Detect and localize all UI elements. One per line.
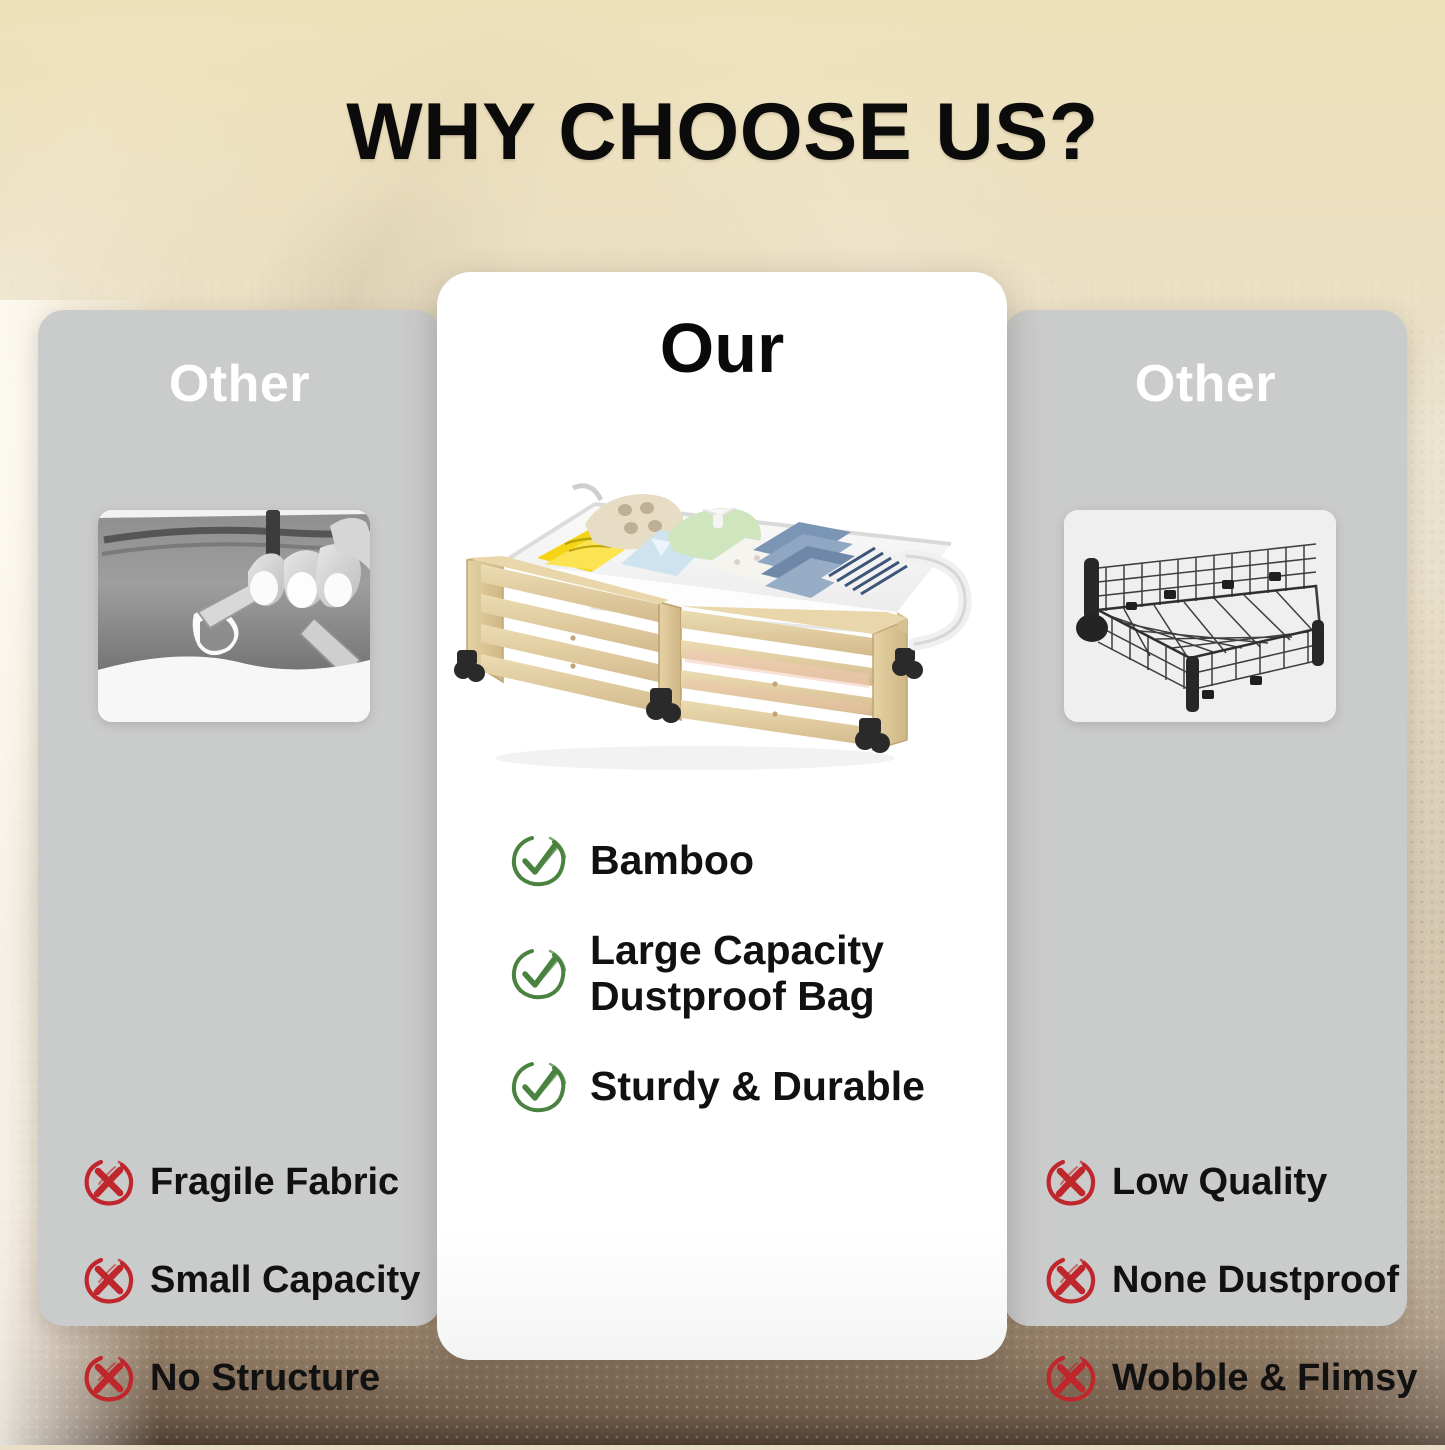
list-item: Large Capacity Dustproof Bag <box>510 928 980 1020</box>
panel-center-bullets: Bamboo Large Capacity Dustproof Bag <box>510 832 980 1154</box>
cross-circle-icon <box>1044 1254 1096 1306</box>
list-item-label: No Structure <box>150 1357 380 1400</box>
list-item: Fragile Fabric <box>82 1156 432 1208</box>
panel-left-title: Other <box>38 354 441 414</box>
list-item: Low Quality <box>1044 1156 1394 1208</box>
list-item: Wobble & Flimsy <box>1044 1352 1394 1404</box>
cross-circle-icon <box>1044 1156 1096 1208</box>
panel-other-right: Other <box>1004 310 1407 1326</box>
check-circle-icon <box>510 832 568 890</box>
cross-circle-icon <box>82 1352 134 1404</box>
list-item-label: Wobble & Flimsy <box>1112 1357 1417 1400</box>
list-item-label: Low Quality <box>1112 1161 1327 1204</box>
list-item-label: Large Capacity Dustproof Bag <box>590 928 884 1020</box>
list-item-label: Small Capacity <box>150 1259 420 1302</box>
list-item-label: Sturdy & Durable <box>590 1064 925 1110</box>
list-item: None Dustproof <box>1044 1254 1394 1306</box>
torn-fabric-bag-photo <box>98 510 370 722</box>
cross-circle-icon <box>1044 1352 1096 1404</box>
list-item: Bamboo <box>510 832 980 890</box>
list-item: Small Capacity <box>82 1254 432 1306</box>
page-title: WHY CHOOSE US? <box>0 86 1445 179</box>
list-item-label: Fragile Fabric <box>150 1161 399 1204</box>
cross-circle-icon <box>82 1156 134 1208</box>
panel-other-left: Other <box>38 310 441 1326</box>
panel-left-bullets: Fragile Fabric Small Capacity <box>82 1156 432 1450</box>
list-item: No Structure <box>82 1352 432 1404</box>
bamboo-storage-box-photo <box>445 452 1001 782</box>
panel-our-center: Our <box>437 272 1007 1360</box>
wire-mesh-basket-photo <box>1064 510 1336 722</box>
check-circle-icon <box>510 945 568 1003</box>
list-item-label: None Dustproof <box>1112 1259 1399 1302</box>
check-circle-icon <box>510 1058 568 1116</box>
panel-center-title: Our <box>437 308 1007 388</box>
cross-circle-icon <box>82 1254 134 1306</box>
panel-right-bullets: Low Quality None Dustproof <box>1044 1156 1394 1450</box>
list-item: Sturdy & Durable <box>510 1058 980 1116</box>
panel-right-title: Other <box>1004 354 1407 414</box>
list-item-label: Bamboo <box>590 838 754 884</box>
